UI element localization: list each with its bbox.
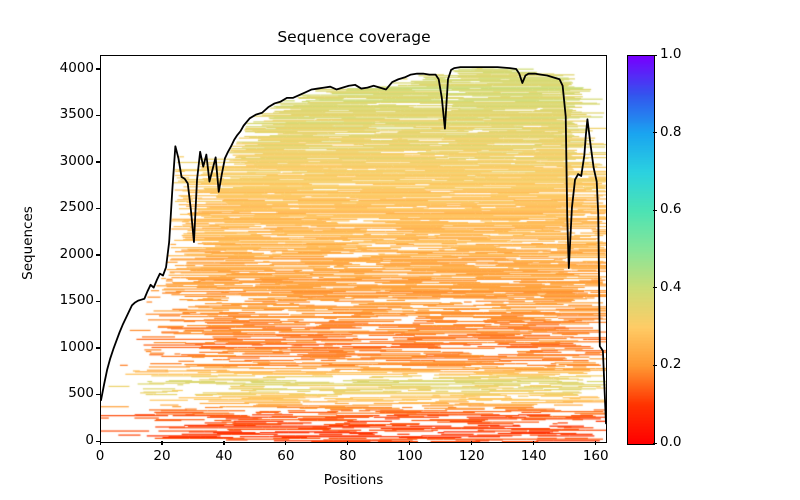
y-tick-mark [96, 394, 100, 395]
y-tick-mark [96, 254, 100, 255]
x-tick-mark [347, 441, 348, 445]
x-tick-mark [595, 441, 596, 445]
colorbar-tick-label: 0.0 [660, 434, 681, 450]
x-tick-mark [285, 441, 286, 445]
y-tick-label: 0 [54, 432, 94, 448]
colorbar-tick-mark [653, 132, 657, 133]
colorbar-tick-mark [653, 287, 657, 288]
y-tick-label: 3500 [54, 106, 94, 122]
y-tick-mark [96, 208, 100, 209]
x-tick-label: 140 [514, 448, 554, 464]
x-tick-label: 60 [266, 448, 306, 464]
colorbar-tick-label: 0.6 [660, 201, 681, 217]
y-tick-label: 4000 [54, 60, 94, 76]
colorbar-tick-mark [653, 365, 657, 366]
x-tick-mark [223, 441, 224, 445]
y-tick-mark [96, 68, 100, 69]
colorbar-tick-mark [653, 210, 657, 211]
x-tick-mark [409, 441, 410, 445]
y-tick-mark [96, 347, 100, 348]
plot-area [100, 55, 607, 443]
y-tick-label: 3000 [54, 153, 94, 169]
x-tick-mark [533, 441, 534, 445]
y-tick-mark [96, 115, 100, 116]
y-tick-label: 2000 [54, 246, 94, 262]
colorbar-tick-label: 0.4 [660, 279, 681, 295]
x-tick-label: 160 [576, 448, 616, 464]
x-tick-label: 120 [452, 448, 492, 464]
y-tick-mark [96, 301, 100, 302]
figure-canvas: Sequence coverage 0500100015002000250030… [0, 0, 800, 500]
x-tick-label: 100 [390, 448, 430, 464]
colorbar-tick-label: 0.2 [660, 356, 681, 372]
colorbar-tick-label: 1.0 [660, 46, 681, 62]
y-axis-title: Sequences [20, 153, 36, 333]
chart-title: Sequence coverage [100, 28, 608, 46]
y-tick-label: 500 [54, 385, 94, 401]
y-tick-mark [96, 161, 100, 162]
x-axis-title: Positions [100, 472, 607, 488]
x-tick-label: 40 [204, 448, 244, 464]
y-tick-label: 1500 [54, 292, 94, 308]
colorbar-tick-mark [653, 443, 657, 444]
x-tick-label: 80 [328, 448, 368, 464]
colorbar [627, 55, 653, 443]
y-tick-label: 1000 [54, 339, 94, 355]
x-tick-label: 20 [142, 448, 182, 464]
colorbar-gradient [627, 55, 655, 445]
x-tick-mark [471, 441, 472, 445]
coverage-line [101, 56, 606, 442]
x-tick-mark [161, 441, 162, 445]
colorbar-tick-label: 0.8 [660, 124, 681, 140]
y-tick-label: 2500 [54, 199, 94, 215]
x-tick-label: 0 [80, 448, 120, 464]
colorbar-tick-mark [653, 55, 657, 56]
x-tick-mark [100, 441, 101, 445]
